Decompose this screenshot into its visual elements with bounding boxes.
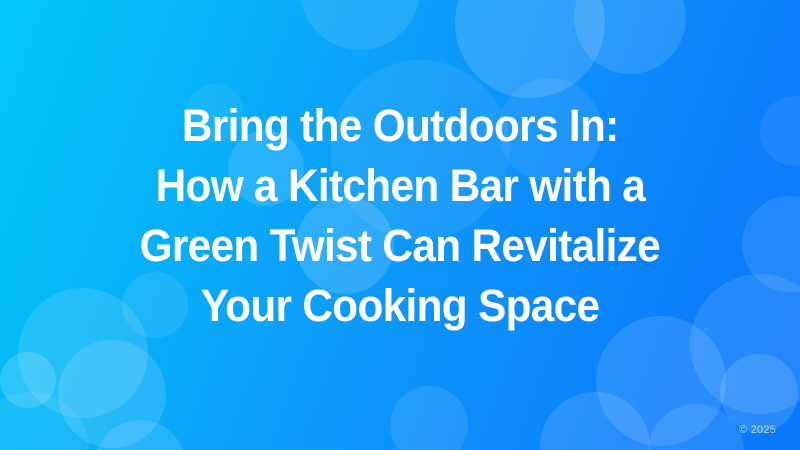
title-line-2: How a Kitchen Bar with a [155, 156, 645, 216]
title-banner: Bring the Outdoors In: How a Kitchen Bar… [0, 0, 800, 450]
title-line-1: Bring the Outdoors In: [182, 96, 619, 156]
title-line-4: Your Cooking Space [201, 276, 600, 336]
title-line-3: Green Twist Can Revitalize [140, 216, 660, 276]
copyright-notice: © 2025 [739, 424, 776, 436]
page-title: Bring the Outdoors In: How a Kitchen Bar… [0, 0, 800, 450]
